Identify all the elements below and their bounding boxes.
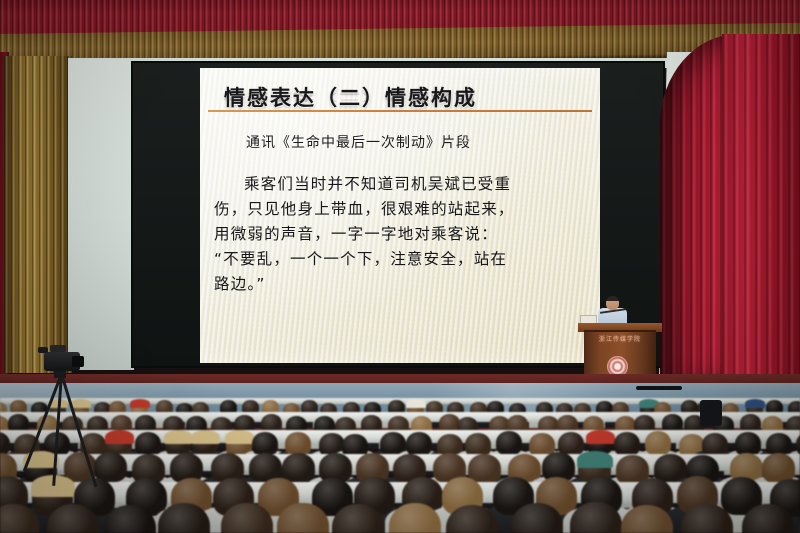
title-underline-rule bbox=[208, 110, 592, 112]
slide-subtitle: 通讯《生命中最后一次制动》片段 bbox=[246, 132, 471, 152]
tripod-head bbox=[54, 370, 66, 378]
audience-member-cap bbox=[191, 430, 220, 444]
audience-member-cap bbox=[130, 399, 150, 408]
wall-left-of-screen bbox=[68, 60, 134, 370]
audience-member-cap bbox=[745, 399, 765, 408]
audience-member-cap bbox=[225, 430, 254, 444]
slide-body-line: 伤，只见他身上带血，很艰难的站起来， bbox=[214, 197, 586, 222]
audience-member-head bbox=[135, 432, 161, 456]
speaker-head bbox=[606, 296, 619, 310]
camera-handle bbox=[50, 345, 66, 352]
slide-body-line: “不要乱，一个一个下，注意安全，站在 bbox=[214, 247, 586, 272]
slide-body-line: 用微弱的声音，一字一字地对乘客说： bbox=[214, 222, 586, 247]
slide-body-line: 乘客们当时并不知道司机吴斌已受重 bbox=[214, 172, 586, 197]
podium-institution-text: 浙江传媒学院 bbox=[586, 334, 654, 343]
audience-member-cap bbox=[105, 430, 134, 444]
lecture-hall-photo: 情感表达（二）情感构成 情感表达（二）情感构成 通讯《生命中最后一次制动》片段 … bbox=[0, 0, 800, 533]
audience-member-head bbox=[406, 432, 432, 456]
audience-member-head bbox=[614, 432, 640, 456]
audience-member-head bbox=[496, 431, 522, 455]
left-gold-curtain-panel bbox=[4, 56, 72, 373]
camera-viewfinder bbox=[38, 347, 48, 353]
audience-member-cap bbox=[577, 451, 613, 468]
audience-member-cap bbox=[406, 399, 426, 408]
audience-member-head bbox=[702, 433, 728, 457]
audience-member-head bbox=[645, 431, 671, 455]
audience-member-cap bbox=[164, 430, 193, 444]
audience-member-cap bbox=[71, 399, 91, 408]
slide-body-line: 路边。” bbox=[214, 272, 586, 297]
floor-speaker-box bbox=[700, 400, 722, 426]
floor-cable bbox=[636, 386, 682, 390]
projected-slide: 情感表达（二）情感构成 情感表达（二）情感构成 通讯《生命中最后一次制动》片段 … bbox=[200, 68, 600, 363]
slide-title: 情感表达（二）情感构成 bbox=[224, 82, 477, 112]
camera-lens-icon bbox=[72, 356, 84, 367]
student-audience bbox=[0, 398, 800, 533]
right-red-curtain-inner-fold bbox=[722, 34, 800, 384]
audience-member-cap bbox=[586, 430, 615, 444]
slide-body-text: 乘客们当时并不知道司机吴斌已受重 伤，只见他身上带血，很艰难的站起来， 用微弱的… bbox=[214, 172, 586, 297]
